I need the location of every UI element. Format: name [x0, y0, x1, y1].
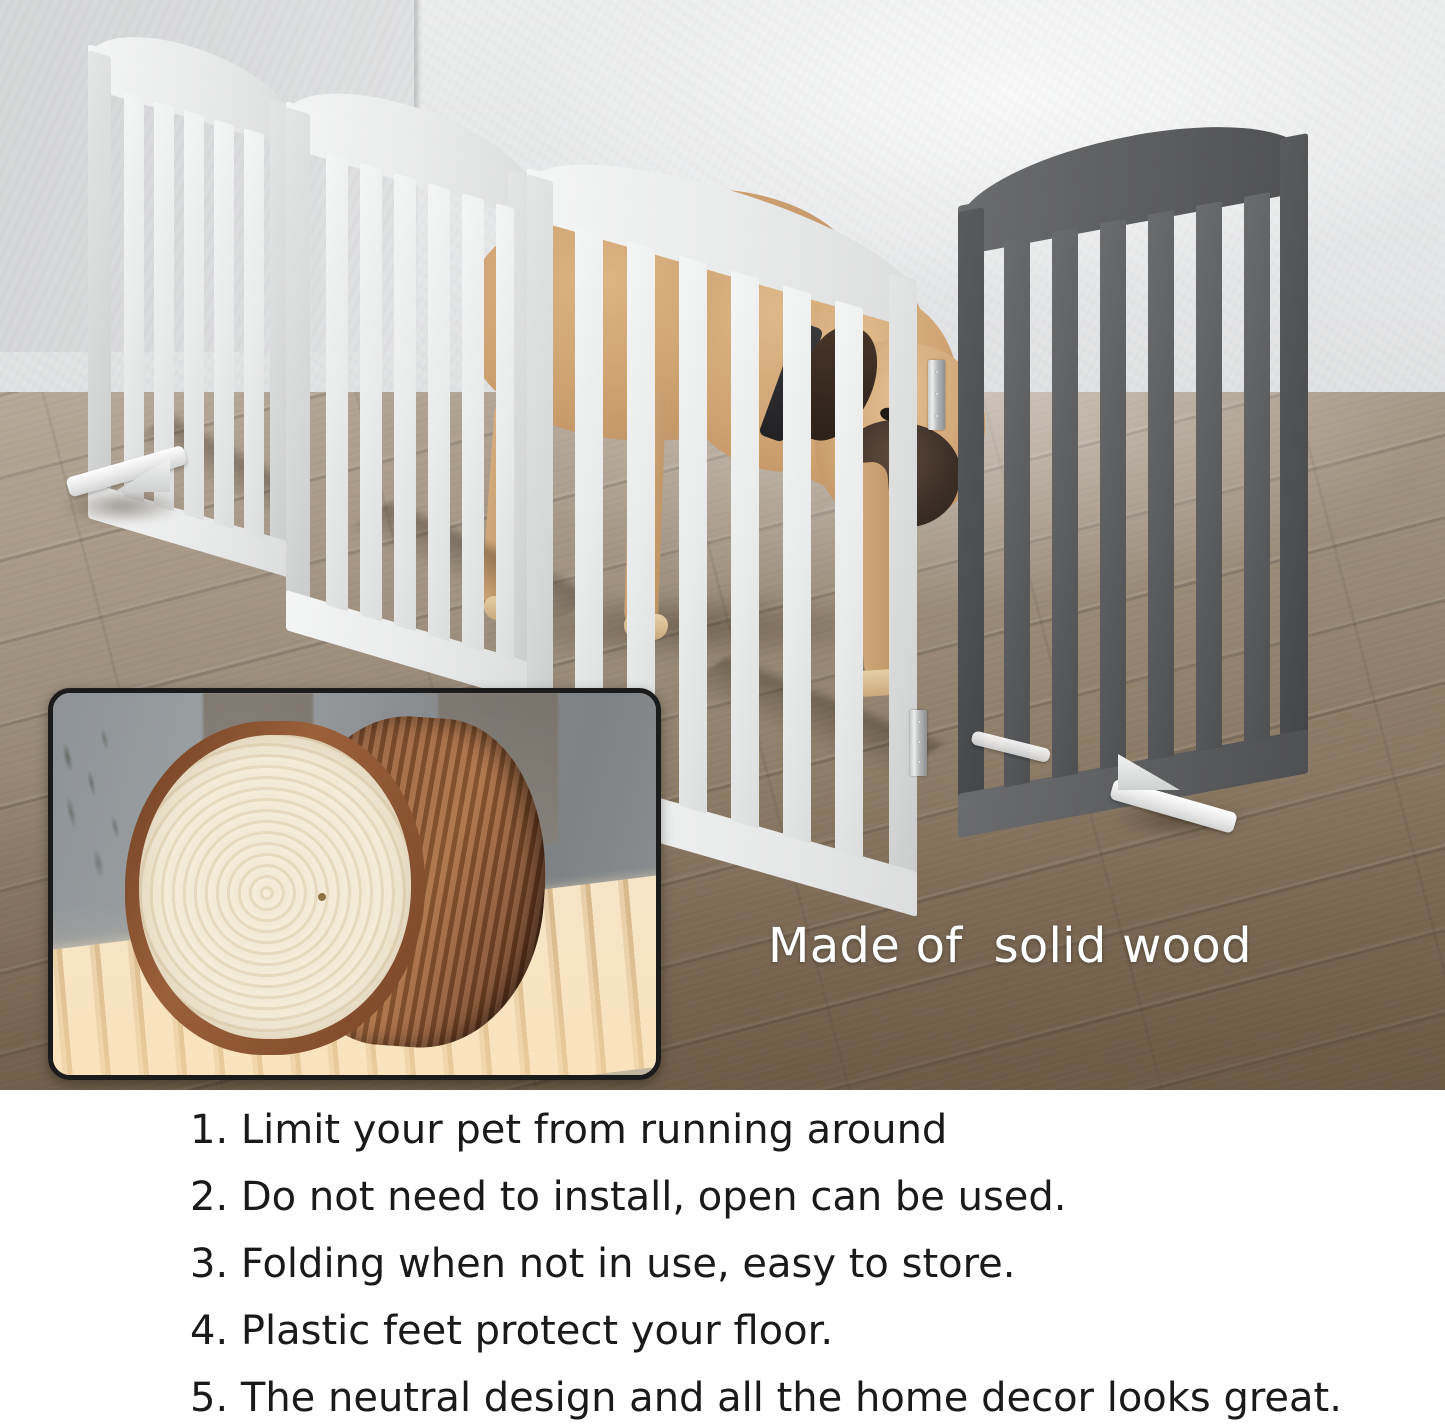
feature-item-4: 4. Plastic feet protect your floor.: [190, 1311, 833, 1351]
panel-1-slat: [214, 119, 234, 529]
panel-3-slat: [679, 256, 707, 814]
feature-item-1: 1. Limit your pet from running around: [190, 1110, 947, 1150]
panel-2-left-stile: [286, 107, 310, 637]
inset-photo-solid-wood: [48, 688, 661, 1080]
hinge-lower: [910, 710, 927, 776]
panel-2-slat: [326, 153, 348, 612]
product-photo: Made of solid wood: [0, 0, 1445, 1090]
foot-rear-inner: [972, 714, 1056, 754]
feature-item-2: 2. Do not need to install, open can be u…: [190, 1177, 1067, 1217]
panel-3-slat: [731, 270, 759, 828]
feature-list: 1. Limit your pet from running around 2.…: [0, 1090, 1445, 1424]
foot-left: [68, 452, 193, 512]
inset-log: [125, 715, 545, 1065]
panel-2-slat: [360, 163, 382, 622]
panel-4-right-stile: [1280, 133, 1308, 778]
hinge-upper: [928, 360, 945, 430]
panel-1-slat: [244, 128, 264, 538]
panel-2-slat: [394, 173, 416, 632]
panel-4-slat: [1052, 228, 1078, 779]
panel-1-slat: [124, 93, 144, 503]
panel-4-slat: [1196, 201, 1222, 752]
feature-item-5: 5. The neutral design and all the home d…: [190, 1378, 1342, 1418]
panel-2-slat: [462, 193, 484, 652]
panel-4-slat: [1244, 192, 1270, 743]
caption-made-of-solid-wood: Made of solid wood: [768, 918, 1252, 974]
foot-right: [1112, 748, 1242, 824]
foot-right-brace: [1118, 754, 1180, 790]
feature-item-3: 3. Folding when not in use, easy to stor…: [190, 1244, 1016, 1284]
panel-3-slat: [783, 285, 811, 843]
gate-panel-2[interactable]: [286, 85, 532, 703]
panel-4-slat: [1100, 219, 1126, 770]
inset-log-cut-face-growth-rings: [139, 735, 411, 1039]
panel-4-slat: [1004, 237, 1030, 788]
panel-3-slat: [835, 300, 863, 858]
panel-4-slat: [1148, 210, 1174, 761]
panel-2-slat: [428, 183, 450, 642]
product-listing-image: Made of solid wood 1. Limit your pet fro…: [0, 0, 1445, 1424]
panel-2-slat: [496, 203, 514, 660]
panel-3-right-stile: [889, 274, 917, 917]
